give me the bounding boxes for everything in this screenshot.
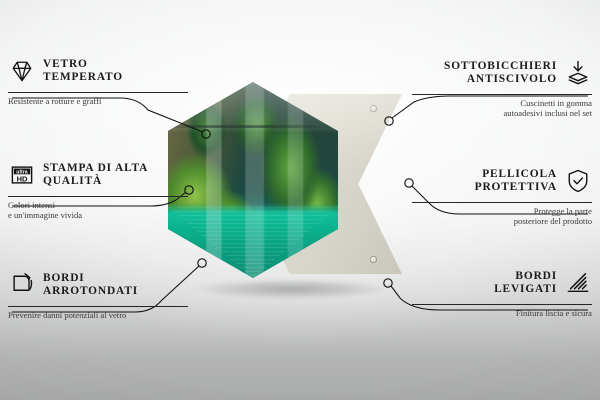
ultra-hd-icon-bottom-text: HD: [17, 174, 28, 183]
feature-heading-row: BORDI ARROTONDATI: [8, 268, 188, 302]
feature-title: STAMPA DI ALTA QUALITÀ: [43, 162, 148, 187]
ultra-hd-icon: ultra HD: [8, 161, 36, 189]
anti-slip-pad: [370, 105, 377, 112]
feature-title: VETRO TEMPERATO: [43, 58, 123, 83]
feature-title: BORDI LEVIGATI: [494, 270, 557, 295]
feature-title: SOTTOBICCHIERI ANTISCIVOLO: [444, 60, 557, 85]
feature-sottobicchieri-antiscivolo: SOTTOBICCHIERI ANTISCIVOLO Cuscinetti in…: [412, 56, 592, 119]
feature-pellicola-protettiva: PELLICOLA PROTETTIVA Protegge la parte p…: [412, 164, 592, 227]
feature-divider: [8, 306, 188, 307]
feature-heading-row: PELLICOLA PROTETTIVA: [412, 164, 592, 198]
glass-reflection-seam: [168, 125, 338, 128]
feature-heading-row: ultra HD STAMPA DI ALTA QUALITÀ: [8, 158, 188, 192]
infographic-canvas: VETRO TEMPERATO Resistente a rotture e g…: [0, 0, 600, 400]
diamond-icon: [8, 57, 36, 85]
anti-slip-pad-icon: [564, 59, 592, 87]
feature-subtitle: Resistente a rotture e graffi: [8, 96, 188, 106]
feature-heading-row: SOTTOBICCHIERI ANTISCIVOLO: [412, 56, 592, 90]
feature-bordi-arrotondati: BORDI ARROTONDATI Prevenire danni potenz…: [8, 268, 188, 320]
feature-title: BORDI ARROTONDATI: [43, 272, 138, 297]
feature-divider: [8, 196, 188, 197]
feature-subtitle: Finitura liscia e sicura: [412, 308, 592, 318]
feature-divider: [412, 94, 592, 95]
feature-divider: [8, 92, 188, 93]
feature-heading-row: VETRO TEMPERATO: [8, 54, 188, 88]
anti-slip-pad: [370, 256, 377, 263]
feature-subtitle: Prevenire danni potenziali al vetro: [8, 310, 188, 320]
shield-check-icon: [564, 167, 592, 195]
feature-heading-row: BORDI LEVIGATI: [412, 266, 592, 300]
feature-divider: [412, 202, 592, 203]
feature-subtitle: Colori intensi e un'immagine vivida: [8, 200, 188, 221]
feature-subtitle: Cuscinetti in gomma autoadesivi inclusi …: [412, 98, 592, 119]
feature-title: PELLICOLA PROTETTIVA: [475, 168, 557, 193]
product-image: [150, 78, 450, 308]
rounded-corner-icon: [8, 271, 36, 299]
feature-bordi-levigati: BORDI LEVIGATI Finitura liscia e sicura: [412, 266, 592, 318]
feature-vetro-temperato: VETRO TEMPERATO Resistente a rotture e g…: [8, 54, 188, 106]
feature-divider: [412, 304, 592, 305]
polished-edge-icon: [564, 269, 592, 297]
feature-subtitle: Protegge la parte posteriore del prodott…: [412, 206, 592, 227]
feature-stampa-alta-qualita: ultra HD STAMPA DI ALTA QUALITÀ Colori i…: [8, 158, 188, 221]
